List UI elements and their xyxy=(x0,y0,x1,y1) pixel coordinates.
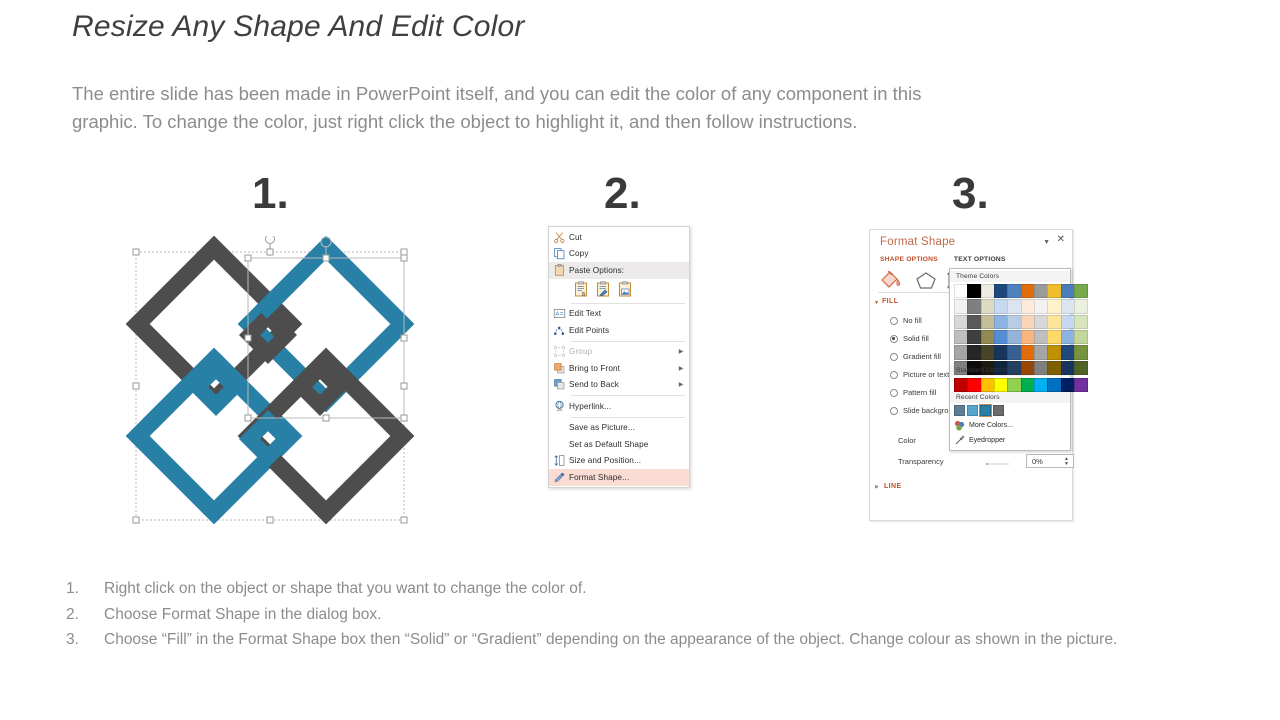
theme-color-swatch-3-8[interactable] xyxy=(1061,330,1075,344)
more-colors-icon xyxy=(954,420,965,431)
theme-color-swatch-1-9[interactable] xyxy=(1074,299,1088,313)
context-menu-label: Group xyxy=(569,347,677,356)
context-menu-item-send-to-back[interactable]: Send to Back ▶ xyxy=(549,377,689,394)
theme-color-swatch-1-8[interactable] xyxy=(1061,299,1075,313)
theme-color-swatch-3-3[interactable] xyxy=(994,330,1008,344)
standard-color-swatch-3[interactable] xyxy=(994,378,1008,392)
eyedropper-action[interactable]: Eyedropper xyxy=(950,433,1070,448)
theme-color-swatch-1-2[interactable] xyxy=(981,299,995,313)
context-menu-item-save-as-picture[interactable]: Save as Picture... xyxy=(549,420,689,437)
recent-color-swatch-2[interactable] xyxy=(980,405,991,416)
chevron-right-icon: ▶ xyxy=(677,381,685,388)
paste-picture-icon[interactable] xyxy=(617,281,633,297)
standard-color-swatch-1[interactable] xyxy=(967,378,981,392)
radio-indicator xyxy=(890,389,898,397)
theme-color-swatch-4-6[interactable] xyxy=(1034,345,1048,359)
radio-label: Gradient fill xyxy=(903,352,941,361)
context-menu-separator xyxy=(571,417,685,418)
theme-colors-grid[interactable] xyxy=(950,282,1070,365)
radio-label: No fill xyxy=(903,316,922,325)
standard-color-swatch-5[interactable] xyxy=(1021,378,1035,392)
spinner-icon[interactable]: ▲▼ xyxy=(1063,456,1070,468)
context-menu-label: Edit Text xyxy=(569,309,685,318)
theme-color-swatch-4-9[interactable] xyxy=(1074,345,1088,359)
theme-color-swatch-5-5[interactable] xyxy=(1021,361,1035,375)
standard-colors-grid[interactable] xyxy=(950,376,1070,392)
theme-color-swatch-0-9[interactable] xyxy=(1074,284,1088,298)
context-menu-label: Save as Picture... xyxy=(569,423,685,432)
list-item-number: 1. xyxy=(66,576,104,602)
weave-overlay-bottom-left xyxy=(138,360,291,513)
radio-pattern-fill[interactable]: Pattern fill xyxy=(890,388,936,397)
bring-to-front-icon xyxy=(549,361,569,376)
context-menu[interactable]: Cut Copy Paste Options: a xyxy=(548,226,690,488)
theme-color-swatch-0-7[interactable] xyxy=(1047,284,1061,298)
theme-color-swatch-3-7[interactable] xyxy=(1047,330,1061,344)
theme-color-swatch-2-0[interactable] xyxy=(954,315,968,329)
context-menu-label: Format Shape... xyxy=(569,473,685,482)
fill-section-header[interactable]: FILL xyxy=(882,298,898,305)
group-icon xyxy=(549,344,569,359)
radio-no-fill[interactable]: No fill xyxy=(890,316,922,325)
theme-color-swatch-3-9[interactable] xyxy=(1074,330,1088,344)
radio-solid-fill[interactable]: Solid fill xyxy=(890,334,929,343)
chevron-right-icon: ▶ xyxy=(677,365,685,372)
interlocking-squares-illustration xyxy=(126,236,414,524)
theme-color-swatch-3-5[interactable] xyxy=(1021,330,1035,344)
format-shape-tabs[interactable]: SHAPE OPTIONS TEXT OPTIONS xyxy=(880,256,1006,263)
more-colors-label: More Colors... xyxy=(969,422,1013,429)
paste-keep-formatting-icon[interactable] xyxy=(595,281,611,297)
list-item-text: Choose Format Shape in the dialog box. xyxy=(104,602,1266,628)
standard-color-swatch-9[interactable] xyxy=(1074,378,1088,392)
theme-color-swatch-2-5[interactable] xyxy=(1021,315,1035,329)
radio-gradient-fill[interactable]: Gradient fill xyxy=(890,352,941,361)
paste-keep-text-icon[interactable]: a xyxy=(573,281,589,297)
eyedropper-icon xyxy=(954,435,965,446)
context-menu-label: Send to Back xyxy=(569,380,677,389)
page-subtitle: The entire slide has been made in PowerP… xyxy=(72,80,1212,136)
transparency-slider[interactable] xyxy=(974,463,1022,465)
subtitle-line-1: The entire slide has been made in PowerP… xyxy=(72,80,1212,108)
theme-color-swatch-2-1[interactable] xyxy=(967,315,981,329)
list-item-number: 3. xyxy=(66,627,104,653)
close-icon[interactable]: ✕ xyxy=(1057,234,1065,245)
list-item-number: 2. xyxy=(66,602,104,628)
list-item: 2. Choose Format Shape in the dialog box… xyxy=(66,602,1266,628)
collapse-triangle-icon[interactable]: ▼ xyxy=(874,300,879,306)
radio-indicator xyxy=(890,371,898,379)
radio-indicator xyxy=(890,317,898,325)
subtitle-line-2: graphic. To change the color, just right… xyxy=(72,108,1212,136)
tab-shape-options[interactable]: SHAPE OPTIONS xyxy=(880,256,938,263)
chevron-right-icon: ▶ xyxy=(677,348,685,355)
step-number-2: 2. xyxy=(604,172,641,216)
edit-points-icon xyxy=(549,323,569,338)
theme-color-swatch-3-1[interactable] xyxy=(967,330,981,344)
list-item: 1. Right click on the object or shape th… xyxy=(66,576,1266,602)
theme-color-swatch-5-9[interactable] xyxy=(1074,361,1088,375)
context-menu-item-paste-options[interactable]: Paste Options: xyxy=(549,262,689,279)
context-menu-item-edit-text[interactable]: A Edit Text xyxy=(549,306,689,323)
theme-color-swatch-0-8[interactable] xyxy=(1061,284,1075,298)
context-menu-label: Edit Points xyxy=(569,326,685,335)
theme-color-swatch-5-4[interactable] xyxy=(1007,361,1021,375)
diamond-ring-bottom-left xyxy=(138,360,291,513)
context-menu-label: Hyperlink... xyxy=(569,402,685,411)
transparency-value: 0% xyxy=(1032,457,1043,466)
hyperlink-icon xyxy=(549,399,569,414)
theme-color-swatch-3-6[interactable] xyxy=(1034,330,1048,344)
theme-color-swatch-2-7[interactable] xyxy=(1047,315,1061,329)
context-menu-item-set-as-default-shape[interactable]: Set as Default Shape xyxy=(549,436,689,453)
theme-color-swatch-0-4[interactable] xyxy=(1007,284,1021,298)
recent-colors-label: Recent Colors xyxy=(950,392,1070,403)
copy-icon xyxy=(549,246,569,261)
chevron-down-icon[interactable]: ▼ xyxy=(1043,239,1050,246)
theme-color-swatch-4-2[interactable] xyxy=(981,345,995,359)
radio-indicator xyxy=(890,407,898,415)
theme-color-swatch-4-4[interactable] xyxy=(1007,345,1021,359)
recent-color-swatch-1[interactable] xyxy=(967,405,978,416)
standard-color-swatch-4[interactable] xyxy=(1007,378,1021,392)
theme-color-swatch-2-2[interactable] xyxy=(981,315,995,329)
theme-color-swatch-4-0[interactable] xyxy=(954,345,968,359)
save-as-picture-icon xyxy=(549,420,569,435)
context-menu-separator xyxy=(571,303,685,304)
context-menu-item-group[interactable]: Group ▶ xyxy=(549,344,689,361)
theme-color-swatch-1-4[interactable] xyxy=(1007,299,1021,313)
theme-color-swatch-1-1[interactable] xyxy=(967,299,981,313)
theme-color-swatch-2-9[interactable] xyxy=(1074,315,1088,329)
color-label: Color xyxy=(898,436,916,445)
standard-color-swatch-6[interactable] xyxy=(1034,378,1048,392)
set-default-shape-icon xyxy=(549,437,569,452)
context-menu-item-copy[interactable]: Copy xyxy=(549,246,689,263)
theme-color-swatch-2-4[interactable] xyxy=(1007,315,1021,329)
theme-color-swatch-3-2[interactable] xyxy=(981,330,995,344)
theme-color-swatch-0-1[interactable] xyxy=(967,284,981,298)
instruction-list: 1. Right click on the object or shape th… xyxy=(66,576,1266,653)
context-menu-item-edit-points[interactable]: Edit Points xyxy=(549,322,689,339)
list-item-text: Right click on the object or shape that … xyxy=(104,576,1266,602)
clipboard-icon xyxy=(549,263,569,278)
context-menu-item-hyperlink[interactable]: Hyperlink... xyxy=(549,398,689,415)
theme-color-swatch-1-0[interactable] xyxy=(954,299,968,313)
theme-color-swatch-1-6[interactable] xyxy=(1034,299,1048,313)
theme-color-swatch-4-3[interactable] xyxy=(994,345,1008,359)
slide-canvas: Resize Any Shape And Edit Color The enti… xyxy=(0,0,1280,720)
recent-color-swatch-3[interactable] xyxy=(993,405,1004,416)
color-picker-dropdown[interactable]: Theme Colors Standard Colors Recent Colo… xyxy=(949,268,1071,451)
transparency-input[interactable]: 0% ▲▼ xyxy=(1026,454,1074,468)
theme-color-swatch-4-7[interactable] xyxy=(1047,345,1061,359)
theme-color-swatch-5-8[interactable] xyxy=(1061,361,1075,375)
format-shape-icon xyxy=(549,470,569,485)
context-menu-label: Copy xyxy=(569,249,685,258)
send-to-back-icon xyxy=(549,377,569,392)
effects-pentagon-icon xyxy=(917,273,935,288)
format-shape-title: Format Shape xyxy=(880,236,955,248)
size-position-icon xyxy=(549,453,569,468)
format-shape-pane[interactable]: Format Shape ▼ ✕ SHAPE OPTIONS TEXT OPTI… xyxy=(869,229,1073,521)
context-menu-label: Bring to Front xyxy=(569,364,677,373)
theme-color-swatch-4-8[interactable] xyxy=(1061,345,1075,359)
radio-indicator xyxy=(890,353,898,361)
context-menu-item-format-shape[interactable]: Format Shape... xyxy=(549,469,689,486)
step-number-3: 3. xyxy=(952,172,989,216)
context-menu-item-bring-to-front[interactable]: Bring to Front ▶ xyxy=(549,360,689,377)
theme-color-swatch-2-6[interactable] xyxy=(1034,315,1048,329)
shape-graphic-panel[interactable] xyxy=(126,236,414,524)
theme-color-swatch-3-4[interactable] xyxy=(1007,330,1021,344)
transparency-label: Transparency xyxy=(898,457,944,466)
tab-text-options[interactable]: TEXT OPTIONS xyxy=(954,256,1006,263)
theme-color-swatch-4-5[interactable] xyxy=(1021,345,1035,359)
page-title: Resize Any Shape And Edit Color xyxy=(72,10,525,44)
list-item-text: Choose “Fill” in the Format Shape box th… xyxy=(104,627,1266,653)
standard-color-swatch-8[interactable] xyxy=(1061,378,1075,392)
theme-color-swatch-5-6[interactable] xyxy=(1034,361,1048,375)
standard-color-swatch-0[interactable] xyxy=(954,378,968,392)
radio-label: Pattern fill xyxy=(903,388,936,397)
scissors-icon xyxy=(549,230,569,245)
context-menu-item-size-and-position[interactable]: Size and Position... xyxy=(549,453,689,470)
theme-color-swatch-1-7[interactable] xyxy=(1047,299,1061,313)
theme-color-swatch-1-3[interactable] xyxy=(994,299,1008,313)
context-menu-separator xyxy=(571,395,685,396)
theme-color-swatch-0-6[interactable] xyxy=(1034,284,1048,298)
theme-colors-label: Theme Colors xyxy=(950,271,1070,282)
standard-color-swatch-2[interactable] xyxy=(981,378,995,392)
fill-bucket-icon xyxy=(882,271,900,287)
context-menu-label: Size and Position... xyxy=(569,456,685,465)
theme-color-swatch-2-8[interactable] xyxy=(1061,315,1075,329)
svg-text:A: A xyxy=(555,312,559,318)
radio-indicator xyxy=(890,335,898,343)
radio-label: Solid fill xyxy=(903,334,929,343)
theme-color-swatch-0-2[interactable] xyxy=(981,284,995,298)
list-item: 3. Choose “Fill” in the Format Shape box… xyxy=(66,627,1266,653)
context-menu-item-cut[interactable]: Cut xyxy=(549,229,689,246)
recent-colors-grid[interactable] xyxy=(950,403,1070,418)
theme-color-swatch-5-7[interactable] xyxy=(1047,361,1061,375)
step-number-1: 1. xyxy=(252,172,289,216)
theme-color-swatch-4-1[interactable] xyxy=(967,345,981,359)
theme-color-swatch-0-5[interactable] xyxy=(1021,284,1035,298)
edit-text-icon: A xyxy=(549,306,569,321)
theme-color-swatch-1-5[interactable] xyxy=(1021,299,1035,313)
theme-color-swatch-2-3[interactable] xyxy=(994,315,1008,329)
theme-color-swatch-0-0[interactable] xyxy=(954,284,968,298)
recent-color-swatch-0[interactable] xyxy=(954,405,965,416)
context-menu-separator xyxy=(571,341,685,342)
eyedropper-label: Eyedropper xyxy=(969,437,1005,444)
expand-triangle-icon[interactable]: ▶ xyxy=(875,484,879,490)
line-section-header[interactable]: LINE xyxy=(884,483,902,490)
theme-color-swatch-0-3[interactable] xyxy=(994,284,1008,298)
context-menu-label: Cut xyxy=(569,233,685,242)
standard-color-swatch-7[interactable] xyxy=(1047,378,1061,392)
context-menu-label: Set as Default Shape xyxy=(569,440,685,449)
more-colors-action[interactable]: More Colors... xyxy=(950,418,1070,433)
context-menu-label: Paste Options: xyxy=(569,266,685,275)
paste-options-row[interactable]: a xyxy=(549,279,689,301)
small-diamond-bottom xyxy=(250,421,287,458)
theme-color-swatch-3-0[interactable] xyxy=(954,330,968,344)
